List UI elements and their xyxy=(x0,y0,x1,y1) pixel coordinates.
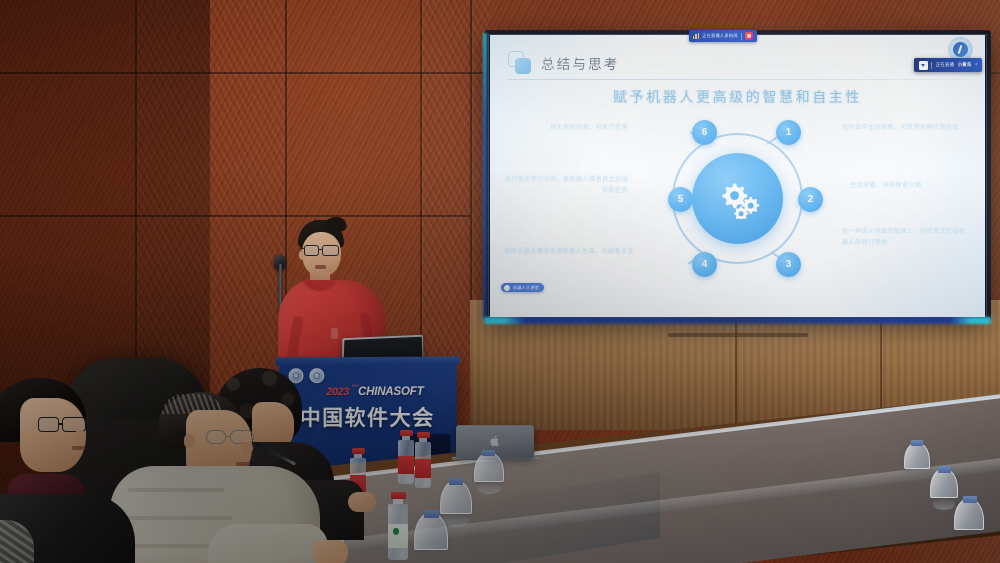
diagram-node-4[interactable]: 4 xyxy=(692,252,717,277)
diagram-node-5[interactable]: 5 xyxy=(668,187,693,212)
bottle-label xyxy=(388,524,408,548)
slide-section-title: 总结与思考 xyxy=(541,53,620,73)
slide-channel-badge: 机器人大讲堂 xyxy=(501,283,544,292)
bottle-cap xyxy=(391,492,406,499)
display-brand-label: display-brand xyxy=(726,326,749,330)
audience-nose xyxy=(242,442,253,454)
white-dot-icon xyxy=(504,285,510,291)
double-chevron-icon: ‹‹ xyxy=(975,62,977,68)
acrylic-name-card-holder[interactable] xyxy=(930,468,960,502)
presentation-scene: display-brand 总结与思考 赋予机器人更高级的智慧和自主性 xyxy=(0,0,1000,563)
audience-mouth xyxy=(72,446,85,450)
presenter-mouth xyxy=(315,265,326,269)
acrylic-name-card-holder[interactable] xyxy=(904,442,932,472)
live-stream-label: 正在直播人多热闹 xyxy=(702,33,738,39)
diagram-node-2[interactable]: 2 xyxy=(798,187,823,212)
slide-header-divider xyxy=(508,79,966,80)
bottle-label xyxy=(415,459,431,478)
display-edge-glow-left xyxy=(483,33,487,319)
water-bottle[interactable] xyxy=(388,492,408,560)
water-bottle[interactable] xyxy=(415,432,431,488)
acrylic-name-card-holder[interactable] xyxy=(954,498,986,534)
presentation-slide: 总结与思考 赋予机器人更高级的智慧和自主性 xyxy=(490,35,985,317)
app-logo-icon xyxy=(745,32,753,40)
gears-icon xyxy=(716,179,760,219)
display-stand xyxy=(668,333,808,337)
slide-heading: 赋予机器人更高级的智慧和自主性 xyxy=(490,87,985,107)
display-edge-glow-bottom xyxy=(484,317,991,324)
wall-seam xyxy=(470,0,472,330)
circular-process-diagram: 1 2 3 4 5 6 xyxy=(650,111,825,286)
rounded-square-stack-icon xyxy=(508,51,532,74)
diagram-node-3[interactable]: 3 xyxy=(776,252,801,277)
audience-hand xyxy=(348,492,376,512)
jacket-quilt-seam xyxy=(128,488,224,492)
diagram-label-3: 在一种语义地图的基础上，利用算法生成机器人的容行理由 xyxy=(842,227,966,248)
signal-bars-icon xyxy=(693,33,699,39)
diagram-label-5: 进行强化学习训练，使机器人或者自主完成导航任务 xyxy=(504,175,628,196)
slide-channel-label: 机器人大讲堂 xyxy=(513,285,539,291)
eyeglasses-icon xyxy=(303,245,341,256)
shirt-graphic xyxy=(331,328,338,339)
chip-divider xyxy=(931,62,932,69)
acrylic-name-card-holder[interactable] xyxy=(474,452,506,486)
download-arrow-icon xyxy=(919,61,928,70)
jacket-quilt-seam xyxy=(124,516,232,520)
diagram-label-1: 在作业中主动探索，可获得各种环境信息 xyxy=(842,123,960,134)
bottle-body xyxy=(415,442,431,488)
audience-ear xyxy=(184,434,194,448)
diagram-center xyxy=(692,153,783,244)
audience-nose xyxy=(76,430,86,441)
wall-seam xyxy=(420,0,422,360)
diagram-node-1[interactable]: 1 xyxy=(776,120,801,145)
diagram-label-4: 借助大语言模型可用机器人生成、与顾客交互 xyxy=(502,247,634,258)
bottle-body xyxy=(398,440,414,484)
wall-display[interactable]: display-brand 总结与思考 赋予机器人更高级的智慧和自主性 xyxy=(485,31,990,321)
audience-member-center xyxy=(110,392,300,563)
bottle-label xyxy=(398,456,414,474)
diagram-label-6: 自主高效探索、可执行任务 xyxy=(510,123,628,134)
audience-hand xyxy=(312,540,348,563)
water-bottle[interactable] xyxy=(398,430,414,484)
podium-brand-en: CHINASOFT xyxy=(358,386,423,398)
audience-member-left xyxy=(0,378,120,563)
diagram-label-2: 主动探索、自构建语义图 xyxy=(850,181,968,192)
stream-download-chip[interactable]: 正在直播 小黄鸟 ‹‹ xyxy=(914,58,982,72)
stream-label-secondary: 小黄鸟 xyxy=(958,62,972,68)
bottle-body xyxy=(388,504,408,560)
podium-year: 2023 xyxy=(326,386,349,398)
audience-arm xyxy=(208,524,328,563)
acrylic-name-card-holder[interactable] xyxy=(414,512,450,554)
chip-divider xyxy=(741,33,742,40)
diagram-node-6[interactable]: 6 xyxy=(692,120,717,145)
podium-top-edge xyxy=(276,357,460,366)
live-stream-chip[interactable]: 正在直播人多热闹 xyxy=(689,30,757,42)
stream-label-primary: 正在直播 xyxy=(936,62,954,68)
slide-section-header: 总结与思考 xyxy=(508,51,620,74)
apple-logo-icon xyxy=(489,435,500,447)
